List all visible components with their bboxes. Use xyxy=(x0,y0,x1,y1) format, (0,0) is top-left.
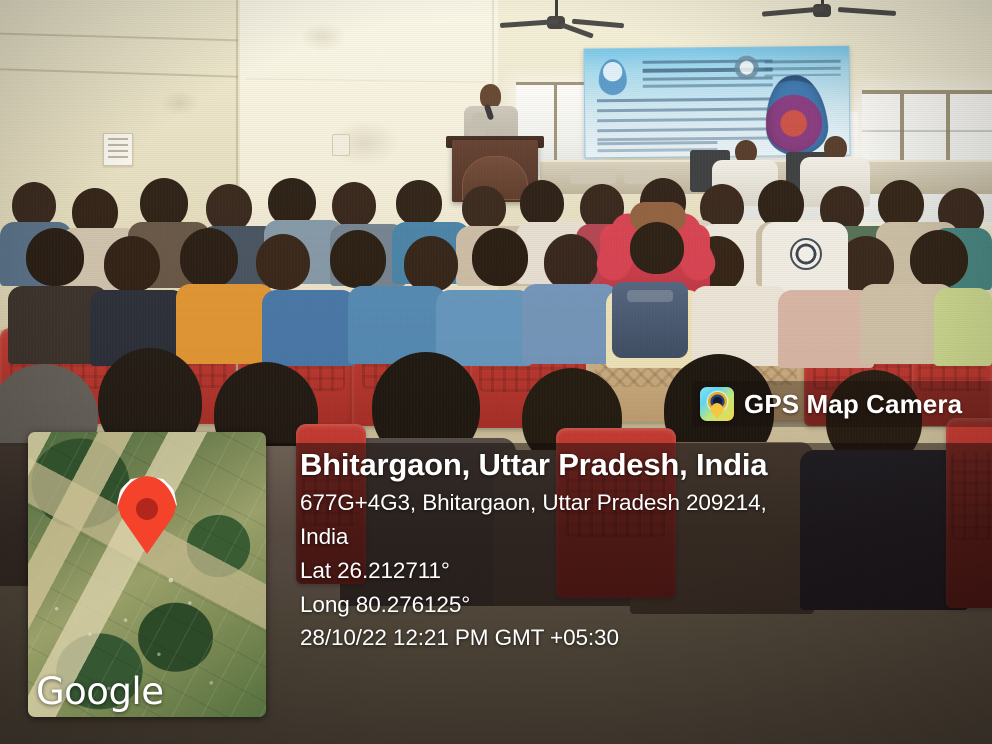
wall-stain xyxy=(300,22,346,52)
location-address-line-2: India xyxy=(300,521,980,553)
audience-head xyxy=(878,180,924,228)
backpack xyxy=(612,282,688,358)
audience-head xyxy=(910,230,968,288)
audience-head xyxy=(396,180,442,226)
window-grill xyxy=(862,130,992,132)
audience-head xyxy=(544,234,598,290)
audience-head xyxy=(330,230,386,288)
banner-logo-right xyxy=(735,56,759,80)
tshirt-logo xyxy=(790,238,822,270)
audience-head xyxy=(758,180,804,228)
gps-map-camera-label: GPS Map Camera xyxy=(744,389,962,420)
audience-head xyxy=(268,178,316,226)
banner-detail-rows xyxy=(597,95,775,145)
audience-head xyxy=(180,228,238,288)
audience-head xyxy=(472,228,528,286)
event-banner xyxy=(583,46,850,159)
window-frame xyxy=(862,90,992,94)
audience-head xyxy=(140,178,188,228)
audience-torso xyxy=(692,286,788,366)
location-timestamp: 28/10/22 12:21 PM GMT +05:30 xyxy=(300,622,980,654)
gps-map-camera-app-icon xyxy=(700,387,734,421)
audience-torso xyxy=(522,284,618,364)
audience-head xyxy=(332,182,376,228)
gps-map-camera-watermark: GPS Map Camera xyxy=(692,381,992,427)
audience-head xyxy=(256,234,310,290)
map-location-pin xyxy=(116,476,178,554)
audience-head xyxy=(520,180,564,226)
location-latitude: Lat 26.212711° xyxy=(300,555,980,587)
location-title: Bhitargaon, Uttar Pradesh, India xyxy=(300,448,980,483)
audience-head xyxy=(26,228,84,286)
wall-switch xyxy=(332,134,350,156)
google-watermark: Google xyxy=(36,670,163,713)
audience-head xyxy=(104,236,160,292)
location-address-line-1: 677G+4G3, Bhitargaon, Uttar Pradesh 2092… xyxy=(300,487,980,519)
map-thumbnail[interactable]: Google xyxy=(28,432,266,717)
location-longitude: Long 80.276125° xyxy=(300,589,980,621)
banner-logo-left xyxy=(599,59,627,95)
audience-head xyxy=(404,236,458,292)
audience-head xyxy=(462,186,506,230)
audience-head xyxy=(206,184,252,232)
audience-head xyxy=(630,222,684,274)
audience-torso xyxy=(934,288,992,366)
wall-stain xyxy=(160,90,200,116)
map-pin-icon xyxy=(710,403,724,419)
audience-torso xyxy=(262,290,356,366)
audience-torso xyxy=(176,284,274,364)
location-details: Bhitargaon, Uttar Pradesh, India 677G+4G… xyxy=(300,448,980,654)
audience-torso xyxy=(436,290,532,366)
wall-notice-paper xyxy=(103,133,133,166)
